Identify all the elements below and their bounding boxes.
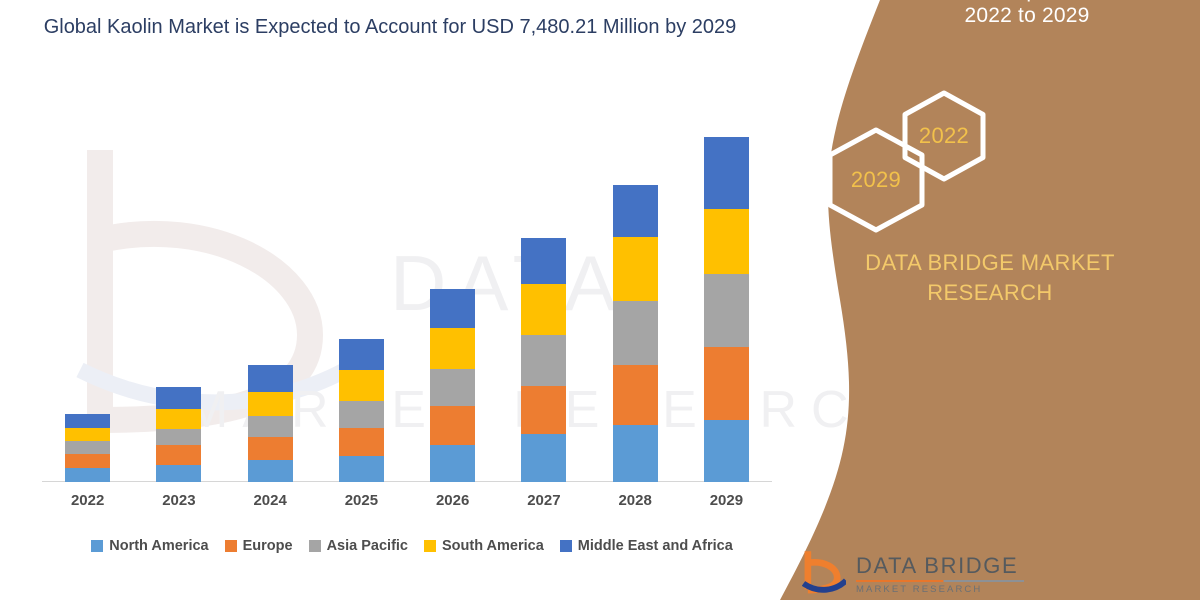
bar-segment[interactable] (339, 401, 384, 428)
bar-slot (316, 90, 407, 482)
chart-area: Global Kaolin Market is Expected to Acco… (0, 0, 880, 600)
bar-segment[interactable] (521, 238, 566, 284)
bar-segment[interactable] (156, 387, 201, 409)
data-bridge-logo-rule (856, 580, 1024, 582)
data-bridge-logo-title: DATA BRIDGE (856, 555, 1024, 577)
hexagon-badge-2029-label: 2029 (851, 167, 901, 193)
legend-swatch-icon (225, 540, 237, 552)
bar-segment[interactable] (339, 339, 384, 370)
data-bridge-logo-icon (802, 548, 846, 594)
bar-segment[interactable] (613, 237, 658, 301)
bar-segment[interactable] (65, 414, 110, 428)
bar-segment[interactable] (65, 468, 110, 482)
legend-swatch-icon (560, 540, 572, 552)
x-axis-label: 2026 (407, 492, 498, 509)
x-axis-label: 2028 (590, 492, 681, 509)
bar-slot (225, 90, 316, 482)
bar-segment[interactable] (704, 347, 749, 420)
bar-segment[interactable] (156, 445, 201, 465)
legend-item[interactable]: North America (91, 538, 208, 554)
bar-segment[interactable] (613, 365, 658, 425)
brand-title: DATA BRIDGE MARKET RESEARCH (790, 248, 1190, 308)
x-axis-label: 2023 (133, 492, 224, 509)
legend-swatch-icon (309, 540, 321, 552)
bar-segment[interactable] (65, 441, 110, 454)
legend-swatch-icon (424, 540, 436, 552)
bar-slot (407, 90, 498, 482)
bar-segment[interactable] (339, 428, 384, 456)
stacked-bar[interactable] (156, 387, 201, 482)
stacked-bar[interactable] (704, 137, 749, 482)
bar-segment[interactable] (430, 369, 475, 406)
bar-segment[interactable] (156, 409, 201, 429)
legend-swatch-icon (91, 540, 103, 552)
stacked-bar[interactable] (521, 238, 566, 482)
chart-legend: North AmericaEuropeAsia PacificSouth Ame… (42, 538, 782, 554)
x-axis-label: 2024 (225, 492, 316, 509)
bar-segment[interactable] (65, 454, 110, 468)
bar-segment[interactable] (704, 209, 749, 274)
x-axis-label: 2025 (316, 492, 407, 509)
x-axis-label: 2029 (681, 492, 772, 509)
forecast-period-line-2: 2022 to 2029 (862, 3, 1192, 29)
bar-segment[interactable] (521, 284, 566, 335)
bar-segment[interactable] (248, 392, 293, 416)
bar-segment[interactable] (613, 185, 658, 237)
bar-group (42, 90, 772, 482)
stacked-bar[interactable] (339, 339, 384, 482)
x-axis-labels: 20222023202420252026202720282029 (42, 492, 772, 509)
legend-label: South America (442, 538, 544, 554)
bar-segment[interactable] (430, 289, 475, 328)
brand-title-line-2: RESEARCH (790, 278, 1190, 308)
bar-segment[interactable] (704, 137, 749, 209)
stacked-bar[interactable] (430, 289, 475, 482)
legend-label: Middle East and Africa (578, 538, 733, 554)
bar-segment[interactable] (521, 434, 566, 482)
bar-segment[interactable] (248, 437, 293, 460)
bar-slot (498, 90, 589, 482)
bar-segment[interactable] (156, 429, 201, 445)
bar-slot (590, 90, 681, 482)
brand-title-line-1: DATA BRIDGE MARKET (790, 248, 1190, 278)
x-axis-label: 2022 (42, 492, 133, 509)
bar-segment[interactable] (430, 406, 475, 445)
stacked-bar[interactable] (248, 365, 293, 482)
infographic-root: DATA BRIDGE MARKET RESEARCH Global Kaoli… (0, 0, 1200, 600)
legend-item[interactable]: Asia Pacific (309, 538, 408, 554)
legend-label: North America (109, 538, 208, 554)
bar-segment[interactable] (704, 274, 749, 347)
bar-segment[interactable] (430, 328, 475, 369)
bar-segment[interactable] (613, 301, 658, 365)
bar-segment[interactable] (521, 386, 566, 434)
x-axis-label: 2027 (498, 492, 589, 509)
bar-slot (133, 90, 224, 482)
data-bridge-logo: DATA BRIDGE MARKET RESEARCH (802, 548, 1024, 594)
legend-item[interactable]: Europe (225, 538, 293, 554)
legend-label: Asia Pacific (327, 538, 408, 554)
stacked-bar-plot (42, 90, 772, 482)
stacked-bar[interactable] (613, 185, 658, 482)
hexagon-badge-2022: 2022 (896, 88, 992, 184)
bar-segment[interactable] (248, 416, 293, 437)
bar-segment[interactable] (339, 370, 384, 401)
bar-segment[interactable] (65, 428, 110, 441)
bar-segment[interactable] (704, 420, 749, 482)
hexagon-badges: 2029 2022 (812, 88, 1032, 233)
bar-slot (42, 90, 133, 482)
stacked-bar[interactable] (65, 414, 110, 482)
bar-segment[interactable] (156, 465, 201, 482)
bar-segment[interactable] (339, 456, 384, 482)
bar-segment[interactable] (248, 365, 293, 392)
data-bridge-logo-text: DATA BRIDGE MARKET RESEARCH (856, 555, 1024, 595)
bar-segment[interactable] (613, 425, 658, 482)
legend-item[interactable]: Middle East and Africa (560, 538, 733, 554)
legend-item[interactable]: South America (424, 538, 544, 554)
bar-slot (681, 90, 772, 482)
bar-segment[interactable] (248, 460, 293, 482)
hexagon-badge-2022-label: 2022 (919, 123, 969, 149)
chart-title: Global Kaolin Market is Expected to Acco… (40, 12, 740, 42)
legend-label: Europe (243, 538, 293, 554)
data-bridge-logo-subtitle: MARKET RESEARCH (856, 585, 1024, 595)
bar-segment[interactable] (430, 445, 475, 482)
bar-segment[interactable] (521, 335, 566, 386)
